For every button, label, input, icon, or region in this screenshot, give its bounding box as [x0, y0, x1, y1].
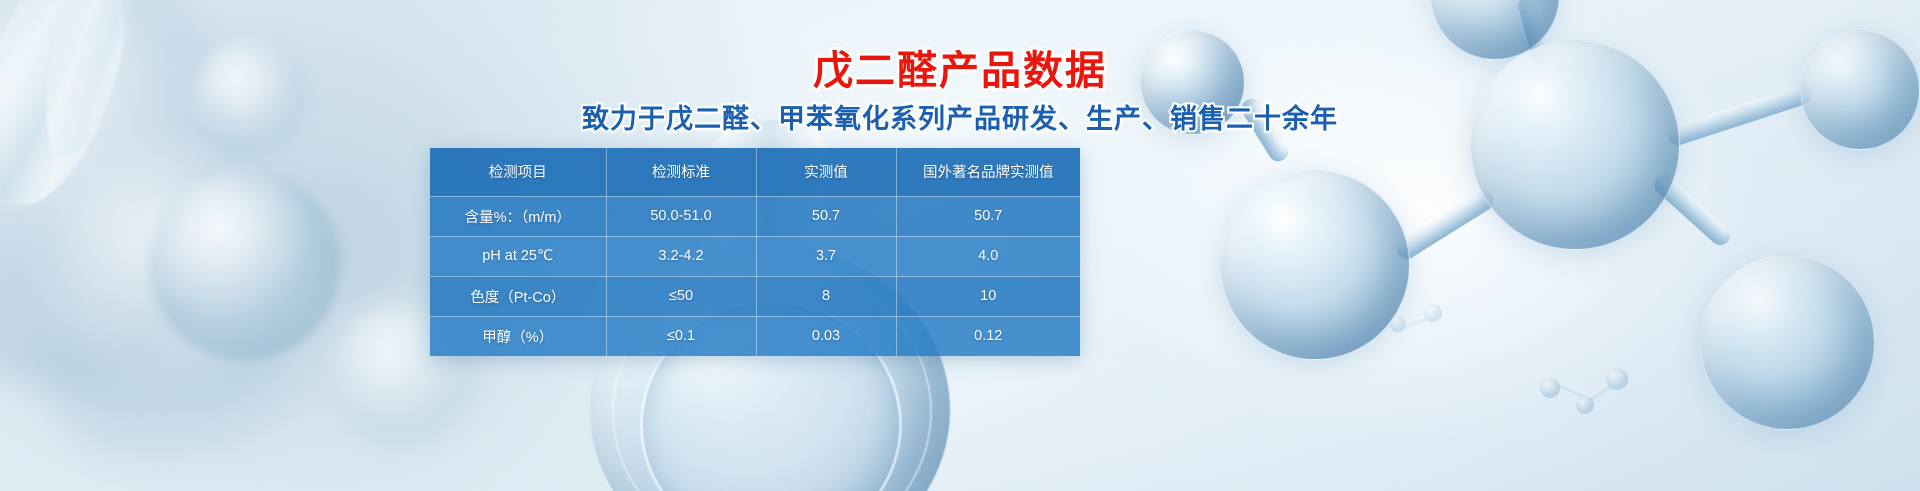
column-header-measured-value: 实测值: [756, 148, 896, 196]
cell-test-item: 含量%：（m/m）: [430, 196, 606, 236]
cell-foreign-brand: 50.7: [896, 196, 1080, 236]
table-row: 色度（Pt-Co） ≤50 8 10: [430, 276, 1080, 316]
mini-molecule-icon: [1540, 360, 1630, 430]
cell-measured-value: 8: [756, 276, 896, 316]
page-title: 戊二醛产品数据: [0, 48, 1920, 95]
product-data-table-wrapper: 检测项目 检测标准 实测值 国外著名品牌实测值 含量%：（m/m） 50.0-5…: [430, 148, 1080, 356]
bokeh-blob-icon: [40, 120, 300, 491]
glass-droplet-icon: [150, 170, 340, 360]
cell-test-item: 色度（Pt-Co）: [430, 276, 606, 316]
molecule-atom-icon: [1220, 170, 1410, 360]
cell-foreign-brand: 4.0: [896, 236, 1080, 276]
cell-measured-value: 3.7: [756, 236, 896, 276]
cell-test-standard: 3.2-4.2: [606, 236, 756, 276]
table-row: 甲醇（%） ≤0.1 0.03 0.12: [430, 316, 1080, 356]
column-header-test-standard: 检测标准: [606, 148, 756, 196]
column-header-test-item: 检测项目: [430, 148, 606, 196]
page-subtitle: 致力于戊二醛、甲苯氧化系列产品研发、生产、销售二十余年: [0, 103, 1920, 137]
table-row: pH at 25℃ 3.2-4.2 3.7 4.0: [430, 236, 1080, 276]
banner-headings: 戊二醛产品数据 致力于戊二醛、甲苯氧化系列产品研发、生产、销售二十余年: [0, 48, 1920, 137]
cell-test-standard: ≤0.1: [606, 316, 756, 356]
table-row: 含量%：（m/m） 50.0-51.0 50.7 50.7: [430, 196, 1080, 236]
product-data-banner: 戊二醛产品数据 致力于戊二醛、甲苯氧化系列产品研发、生产、销售二十余年 检测项目…: [0, 0, 1920, 491]
molecule-atom-icon: [1700, 255, 1875, 430]
cell-measured-value: 0.03: [756, 316, 896, 356]
product-data-table: 检测项目 检测标准 实测值 国外著名品牌实测值 含量%：（m/m） 50.0-5…: [430, 148, 1080, 356]
cell-measured-value: 50.7: [756, 196, 896, 236]
mini-molecule-icon: [1390, 300, 1460, 360]
cell-foreign-brand: 10: [896, 276, 1080, 316]
table-body: 含量%：（m/m） 50.0-51.0 50.7 50.7 pH at 25℃ …: [430, 196, 1080, 356]
cell-test-item: 甲醇（%）: [430, 316, 606, 356]
column-header-foreign-brand: 国外著名品牌实测值: [896, 148, 1080, 196]
table-header-row: 检测项目 检测标准 实测值 国外著名品牌实测值: [430, 148, 1080, 196]
cell-test-standard: 50.0-51.0: [606, 196, 756, 236]
cell-test-item: pH at 25℃: [430, 236, 606, 276]
cell-foreign-brand: 0.12: [896, 316, 1080, 356]
cell-test-standard: ≤50: [606, 276, 756, 316]
